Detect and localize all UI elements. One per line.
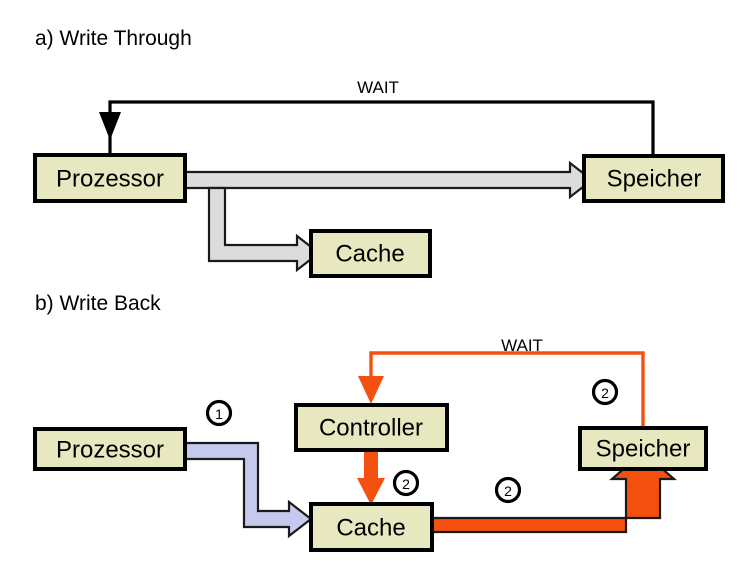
box-cache-a[interactable]: Cache <box>311 231 430 276</box>
wait-path-b-arrowhead <box>358 376 384 404</box>
wait-label-b: WAIT <box>501 336 543 355</box>
step-marker-2-speicher-wait: 2 <box>594 381 617 404</box>
arrow-prozessor-to-cache-a <box>209 188 319 270</box>
box-prozessor-b-label: Prozessor <box>56 437 164 464</box>
arrow-controller-to-cache-b <box>357 446 385 505</box>
step-marker-1-label: 1 <box>215 406 223 422</box>
section-a-title: a) Write Through <box>35 27 192 50</box>
box-speicher-a[interactable]: Speicher <box>584 156 723 201</box>
arrow-prozessor-to-cache-b-shape <box>185 443 311 536</box>
arrow-controller-to-cache-b-arrowhead <box>357 478 385 505</box>
step-marker-2-cache-speicher: 2 <box>497 479 520 502</box>
section-b-title: b) Write Back <box>35 292 161 315</box>
wait-label-a: WAIT <box>357 78 399 97</box>
wait-path-a-arrowhead <box>99 112 121 140</box>
arrow-prozessor-to-speicher-a-shape <box>185 163 592 197</box>
arrow-prozessor-to-cache-b <box>185 443 311 536</box>
box-speicher-b-label: Speicher <box>596 436 691 463</box>
box-cache-b-label: Cache <box>336 515 405 542</box>
box-speicher-b[interactable]: Speicher <box>580 428 706 469</box>
box-prozessor-a[interactable]: Prozessor <box>35 155 185 201</box>
box-cache-b[interactable]: Cache <box>311 504 432 550</box>
step-marker-2-cache-speicher-label: 2 <box>504 483 512 499</box>
step-marker-2-controller-cache: 2 <box>395 472 418 495</box>
box-cache-a-label: Cache <box>335 241 404 268</box>
arrow-prozessor-to-speicher-a <box>185 163 592 197</box>
section-a-write-through: a) Write Through WAIT Prozessor Cache Sp… <box>35 27 723 276</box>
arrow-prozessor-to-cache-a-shape <box>209 188 319 270</box>
box-controller-b-label: Controller <box>319 415 423 442</box>
step-marker-1: 1 <box>208 402 231 425</box>
section-b-write-back: b) Write Back WAIT Prozessor Controller <box>35 292 706 550</box>
cache-write-policy-diagram: a) Write Through WAIT Prozessor Cache Sp… <box>0 0 751 580</box>
box-controller-b[interactable]: Controller <box>296 405 447 450</box>
step-marker-2-controller-cache-label: 2 <box>402 476 410 492</box>
diagram-root: a) Write Through WAIT Prozessor Cache Sp… <box>0 0 751 580</box>
step-marker-2-speicher-wait-label: 2 <box>601 385 609 401</box>
box-speicher-a-label: Speicher <box>607 166 702 193</box>
box-prozessor-a-label: Prozessor <box>56 166 164 193</box>
box-prozessor-b[interactable]: Prozessor <box>35 429 185 469</box>
